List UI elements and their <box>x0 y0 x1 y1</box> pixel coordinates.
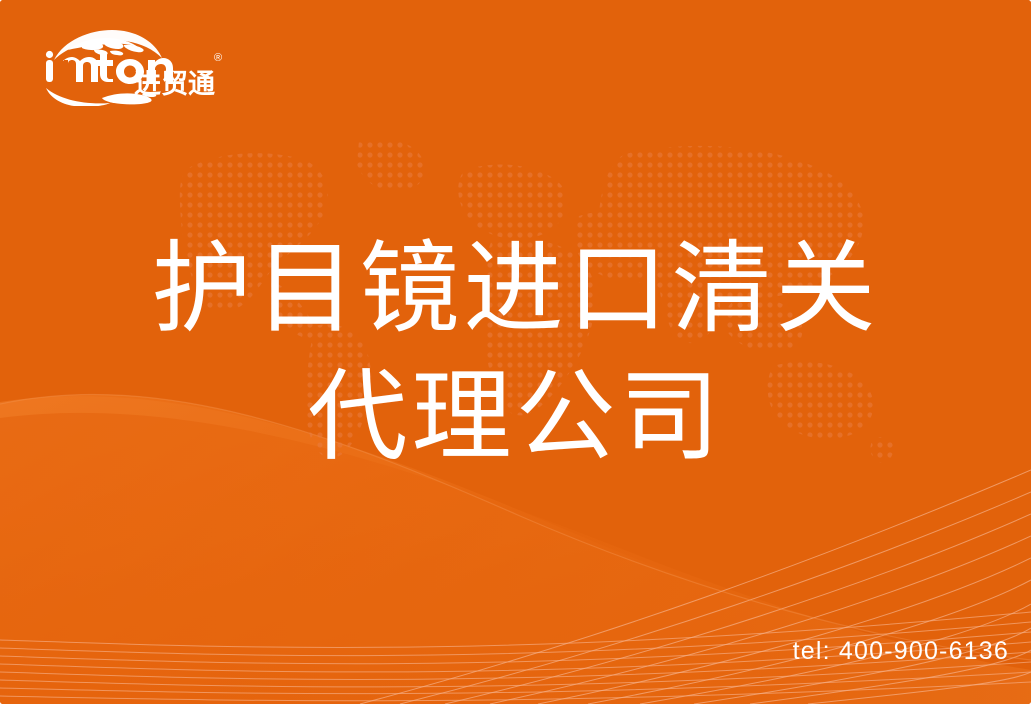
brand-logo-graphic <box>38 26 218 106</box>
brand-wordmark <box>46 51 173 84</box>
swoosh-icon <box>46 88 156 106</box>
poster-canvas: 进贸通 ® 护目镜进口清关 代理公司 tel: 400-900-6136 <box>0 0 1031 704</box>
page-title-line-2: 代理公司 <box>0 353 1031 481</box>
brand-logo[interactable]: 进贸通 ® <box>38 26 218 106</box>
page-title: 护目镜进口清关 代理公司 <box>0 225 1031 481</box>
contact-telephone: tel: 400-900-6136 <box>793 637 1009 666</box>
globe-map-icon <box>54 30 162 60</box>
page-title-line-1: 护目镜进口清关 <box>0 225 1031 353</box>
